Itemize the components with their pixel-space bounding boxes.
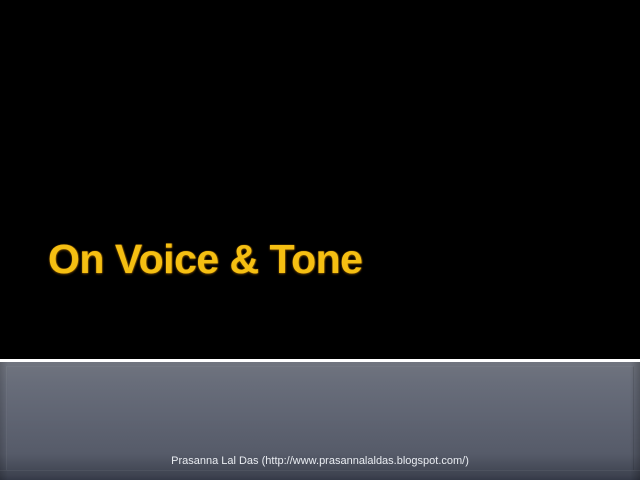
slide-footer-band: Prasanna Lal Das (http://www.prasannalal… <box>0 362 640 480</box>
footer-bottom-rule <box>0 470 640 471</box>
slide-title: On Voice & Tone <box>48 238 362 281</box>
slide-title-block: On Voice & Tone <box>48 228 608 292</box>
slide-body-area: On Voice & Tone <box>0 0 640 360</box>
slide-canvas: On Voice & Tone Prasanna Lal Das (http:/… <box>0 0 640 480</box>
footer-credit-text: Prasanna Lal Das (http://www.prasannalal… <box>0 454 640 468</box>
